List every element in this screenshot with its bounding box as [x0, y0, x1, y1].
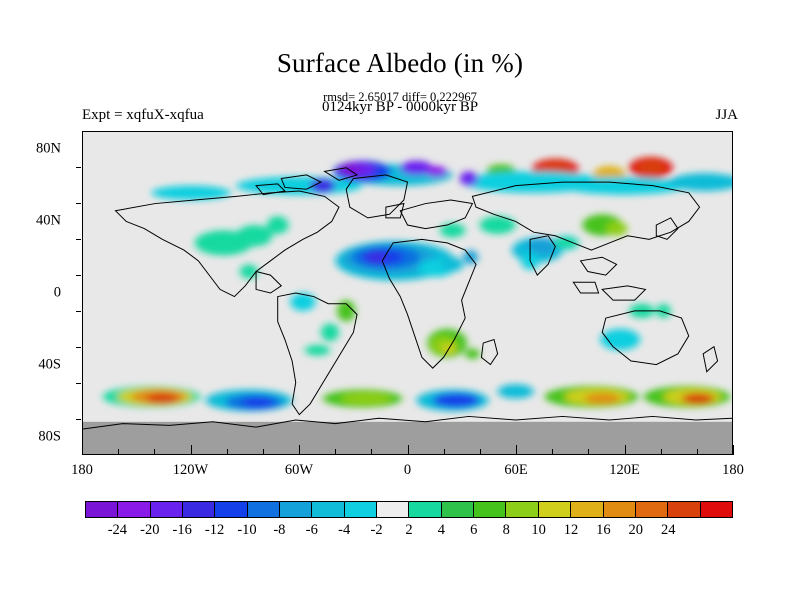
y-axis-tick-label: 80S — [38, 429, 61, 446]
x-axis-tick-label: 120E — [609, 462, 640, 479]
colorbar-cell — [151, 502, 183, 517]
colorbar-cell — [312, 502, 344, 517]
y-tick — [76, 203, 81, 204]
experiment-label: Expt = xqfuX-xqfua — [82, 107, 204, 124]
x-tick-major — [82, 445, 83, 455]
y-tick — [76, 419, 81, 420]
figure-canvas: Surface Albedo (in %) rmsd= 2.65017 diff… — [0, 0, 800, 600]
x-tick — [154, 449, 155, 454]
x-tick — [480, 449, 481, 454]
colorbar-cell — [248, 502, 280, 517]
season-label: JJA — [715, 107, 738, 124]
colorbar-cell — [604, 502, 636, 517]
colorbar-cell — [377, 502, 409, 517]
colorbar-cell — [474, 502, 506, 517]
x-tick — [335, 449, 336, 454]
colorbar-cell — [345, 502, 377, 517]
y-axis-tick-label: 80N — [36, 141, 61, 158]
colorbar-tick-label: 24 — [661, 522, 676, 539]
x-tick — [263, 449, 264, 454]
y-tick — [76, 275, 81, 276]
colorbar-cell — [571, 502, 603, 517]
colorbar-tick-label: -12 — [205, 522, 224, 539]
figure-title: Surface Albedo (in %) — [0, 48, 800, 79]
colorbar-tick-label: 4 — [438, 522, 445, 539]
y-axis-tick-label: 40N — [36, 213, 61, 230]
x-axis-tick-label: 0 — [404, 462, 411, 479]
x-tick — [444, 449, 445, 454]
y-tick — [76, 239, 81, 240]
x-tick-major — [191, 445, 192, 455]
colorbar-cell — [668, 502, 700, 517]
colorbar-tick-label: 20 — [629, 522, 644, 539]
colorbar-cell — [409, 502, 441, 517]
colorbar-tick-label: 2 — [405, 522, 412, 539]
colorbar-cell — [636, 502, 668, 517]
colorbar-tick-label: -16 — [173, 522, 192, 539]
colorbar-tick-label: -24 — [108, 522, 127, 539]
colorbar-tick-label: 16 — [596, 522, 611, 539]
y-axis-tick-label: 40S — [38, 357, 61, 374]
colorbar-cell — [506, 502, 538, 517]
x-tick-major — [733, 445, 734, 455]
colorbar-tick-label: -2 — [371, 522, 383, 539]
x-tick — [661, 449, 662, 454]
map-plot-frame — [82, 131, 733, 455]
y-tick — [76, 167, 81, 168]
colorbar-cell — [118, 502, 150, 517]
colorbar-cell — [86, 502, 118, 517]
y-tick — [76, 383, 81, 384]
colorbar-tick-label: -4 — [338, 522, 350, 539]
colorbar-tick-label: 8 — [503, 522, 510, 539]
x-tick-major — [516, 445, 517, 455]
x-tick — [118, 449, 119, 454]
x-axis-tick-label: 120W — [173, 462, 208, 479]
map-clip — [83, 132, 732, 454]
x-tick — [552, 449, 553, 454]
colorbar-tick-label: -20 — [140, 522, 159, 539]
x-axis-tick-label: 60E — [504, 462, 527, 479]
colorbar-cell — [183, 502, 215, 517]
x-tick — [371, 449, 372, 454]
x-tick-major — [625, 445, 626, 455]
x-tick-major — [408, 445, 409, 455]
colorbar-tick-label: -10 — [237, 522, 256, 539]
x-tick — [227, 449, 228, 454]
colorbar-cell — [442, 502, 474, 517]
y-tick — [76, 347, 81, 348]
colorbar-cell — [215, 502, 247, 517]
colorbar-cell — [539, 502, 571, 517]
colorbar-tick-label: -6 — [306, 522, 318, 539]
x-axis-tick-label: 60W — [285, 462, 313, 479]
map-anomaly-field — [83, 132, 732, 454]
x-axis-tick-label: 180 — [71, 462, 93, 479]
y-axis-tick-label: 0 — [54, 285, 61, 302]
colorbar-cell — [701, 502, 732, 517]
colorbar-tick-label: 12 — [564, 522, 579, 539]
x-tick-major — [299, 445, 300, 455]
colorbar — [85, 501, 733, 518]
colorbar-tick-label: 10 — [531, 522, 546, 539]
y-tick — [76, 311, 81, 312]
x-tick — [588, 449, 589, 454]
x-tick — [697, 449, 698, 454]
x-axis-tick-label: 180 — [722, 462, 744, 479]
colorbar-tick-label: 6 — [470, 522, 477, 539]
colorbar-cell — [280, 502, 312, 517]
colorbar-tick-label: -8 — [273, 522, 285, 539]
